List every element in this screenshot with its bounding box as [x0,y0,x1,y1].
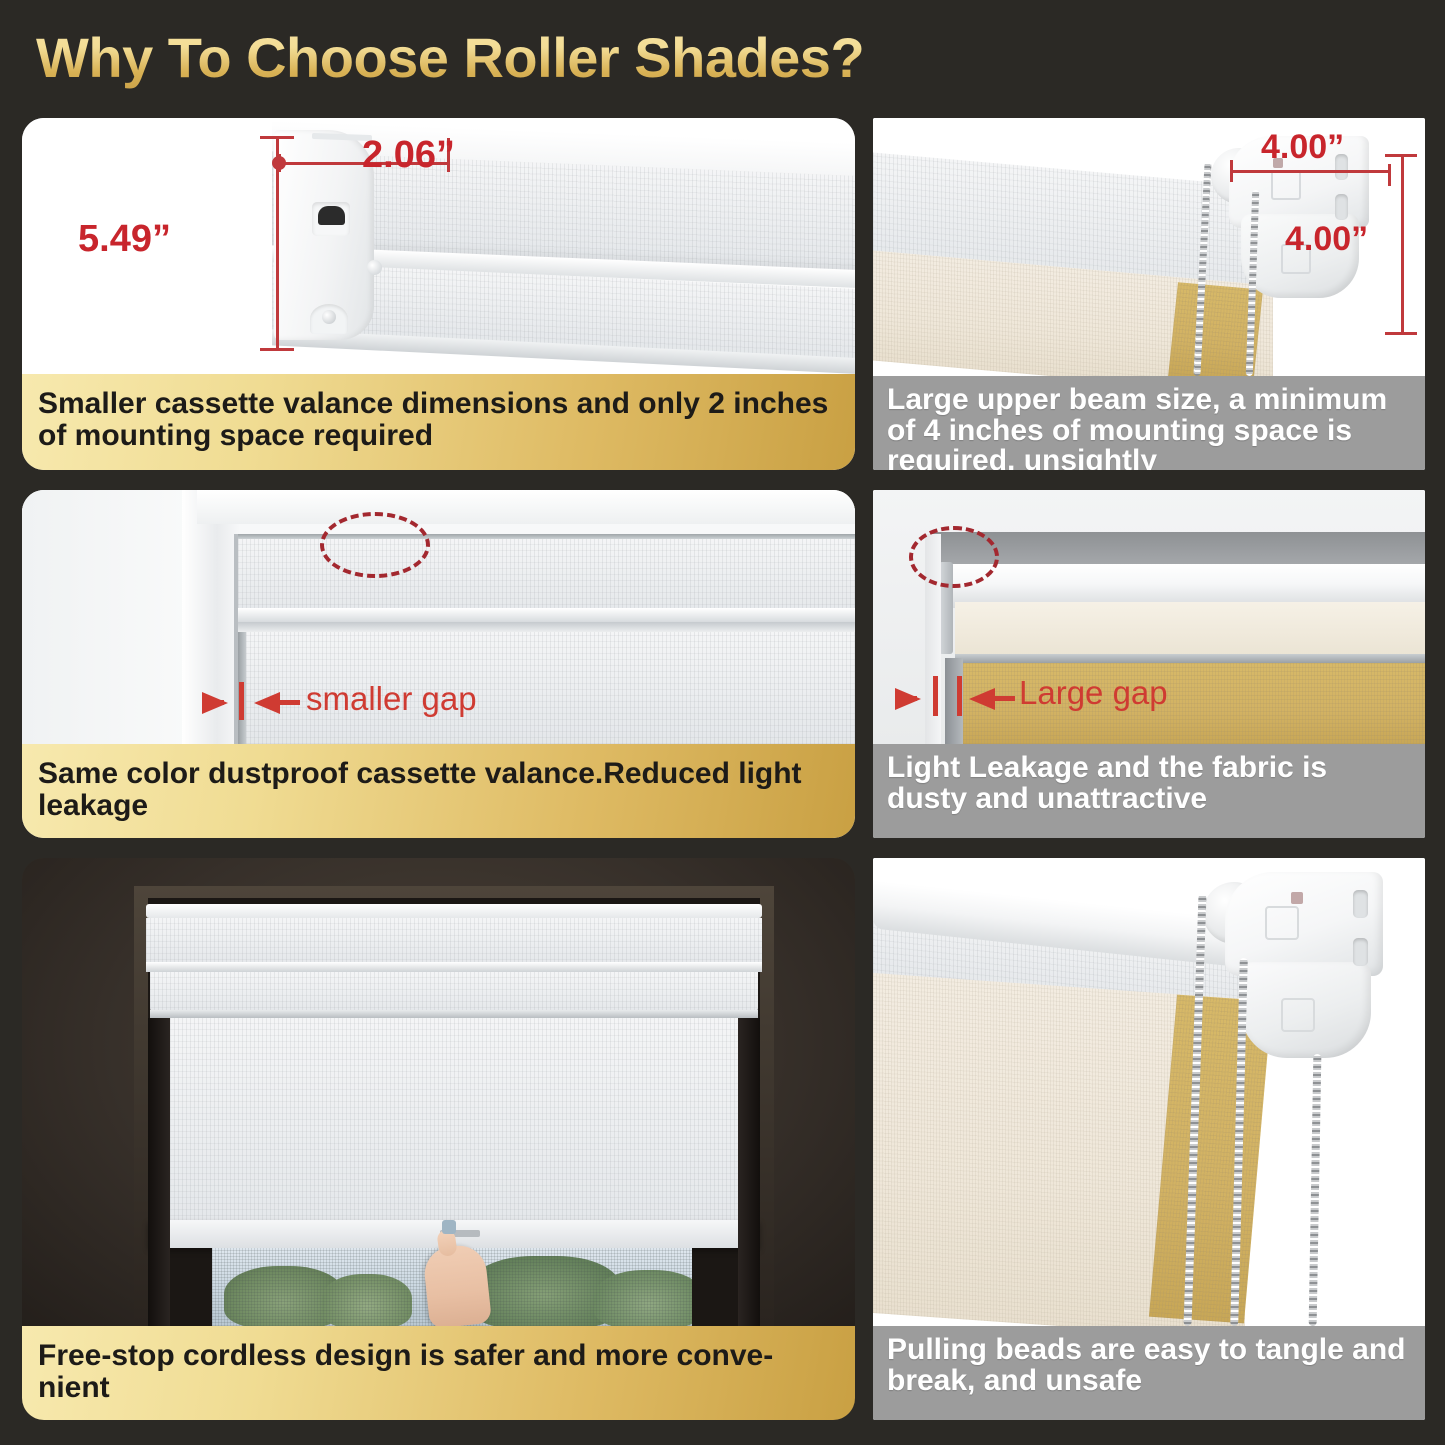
dimension-label-5-49: 5.49” [78,218,171,261]
infographic-root: Why To Choose Roller Shades? [0,0,1445,1445]
panel-5-photo [22,858,855,1326]
bead-chain [1309,1054,1322,1326]
panel-light-leakage: Large gap Light Leakage and the fabric i… [873,490,1425,838]
panel-1-caption: Smaller cassette valance dimensions and … [22,374,855,470]
panel-2-photo: 4.00” 4.00” [873,118,1425,376]
panel-smaller-cassette: 2.06” 5.49” Smaller cassette valance dim… [22,118,855,470]
panel-3-photo: smaller gap [22,490,855,744]
panel-1-photo: 2.06” 5.49” [22,118,855,374]
panel-large-beam: 4.00” 4.00” Large upper beam size, a min… [873,118,1425,470]
page-title: Why To Choose Roller Shades? [36,22,1136,94]
panel-2-caption: Large upper beam size, a minimum of 4 in… [873,376,1425,470]
panel-3-caption: Same color dustproof cassette valance.Re… [22,744,855,838]
panel-cordless-design: Free-stop cordless design is safer and m… [22,858,855,1420]
annotation-large-gap: Large gap [1019,674,1168,712]
panel-6-photo [873,858,1425,1326]
dimension-label-2-06: 2.06” [362,134,455,177]
highlight-ellipse [909,526,999,588]
panel-4-photo: Large gap [873,490,1425,744]
panel-6-caption: Pulling beads are easy to tangle and bre… [873,1326,1425,1420]
panel-5-caption: Free-stop cordless design is safer and m… [22,1326,855,1420]
panel-pulling-beads: Pulling beads are easy to tangle and bre… [873,858,1425,1420]
panel-dustproof-valance: smaller gap Same color dustproof cassett… [22,490,855,838]
dimension-label-width-4: 4.00” [1261,128,1344,167]
dimension-label-height-4: 4.00” [1285,220,1368,259]
gap-arrow-right [969,688,995,710]
annotation-smaller-gap: smaller gap [306,680,477,718]
gap-arrow-right [254,692,280,714]
highlight-ellipse [320,512,430,578]
panel-4-caption: Light Leakage and the fabric is dusty an… [873,744,1425,838]
dim-line-height [276,136,279,351]
